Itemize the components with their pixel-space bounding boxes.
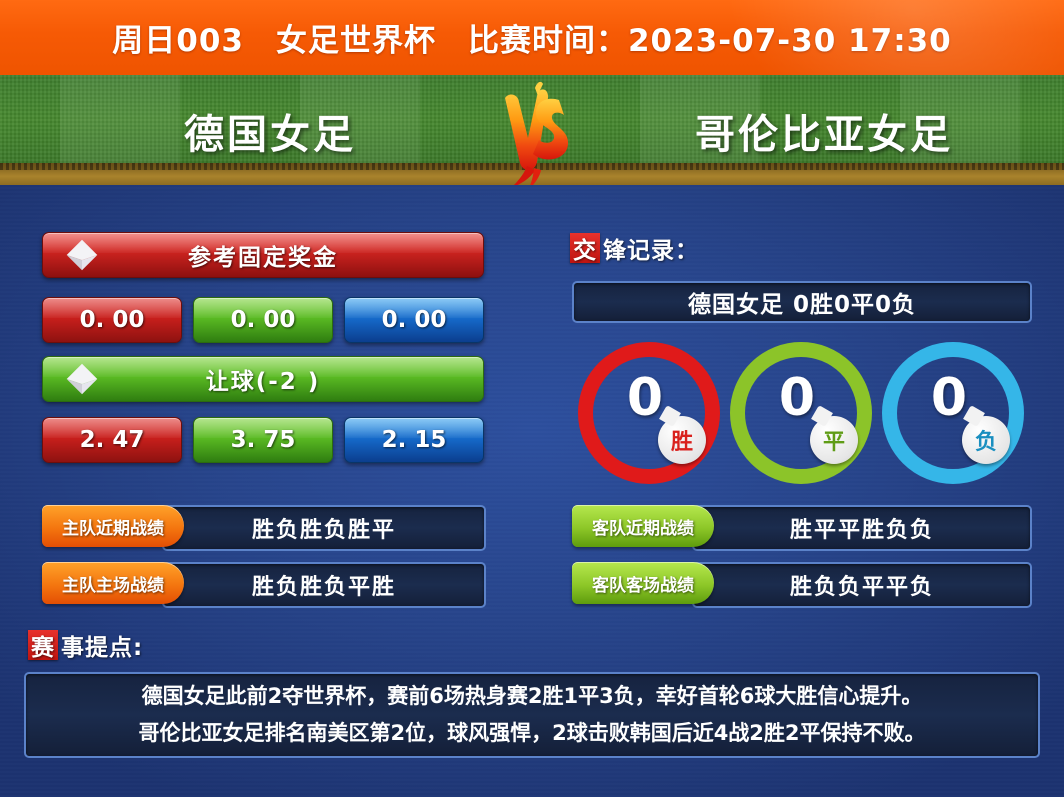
fixed-odds-away-button[interactable]: 0. 00 bbox=[344, 297, 484, 343]
analysis-line-1: 德国女足此前2夺世界杯，赛前6场热身赛2胜1平3负，幸好首轮6球大胜信心提升。 bbox=[142, 678, 923, 715]
fixed-odds-home-value: 0. 00 bbox=[80, 307, 145, 333]
home-recent-form-label: 主队近期战绩 bbox=[62, 514, 164, 539]
header-bar: 周日003 女足世界杯 比赛时间：2023-07-30 17:30 bbox=[0, 0, 1064, 75]
analysis-section-label: 赛 事提点: bbox=[28, 628, 143, 662]
handicap-draw-button[interactable]: 3. 75 bbox=[193, 417, 333, 463]
away-recent-form-tab[interactable]: 客队近期战绩 bbox=[572, 505, 714, 547]
handicap-home-value: 2. 47 bbox=[80, 427, 145, 453]
away-venue-form-label: 客队客场战绩 bbox=[592, 571, 694, 596]
handicap-title: 让球(-2 ) bbox=[206, 362, 321, 396]
h2h-summary-bar: 德国女足 0胜0平0负 bbox=[572, 281, 1032, 323]
vs-icon bbox=[487, 80, 587, 190]
fixed-odds-title-bar: 参考固定奖金 bbox=[42, 232, 484, 278]
h2h-label-text: 锋记录： bbox=[603, 231, 699, 265]
away-recent-form-label: 客队近期战绩 bbox=[592, 514, 694, 539]
h2h-win-badge: 胜 bbox=[658, 416, 706, 464]
analysis-line-2: 哥伦比亚女足排名南美区第2位，球风强悍，2球击败韩国后近4战2胜2平保持不败。 bbox=[138, 715, 925, 752]
away-team-name: 哥伦比亚女足 bbox=[654, 88, 994, 173]
home-venue-form-tab[interactable]: 主队主场战绩 bbox=[42, 562, 184, 604]
analysis-box: 德国女足此前2夺世界杯，赛前6场热身赛2胜1平3负，幸好首轮6球大胜信心提升。 … bbox=[24, 672, 1040, 758]
handicap-title-bar: 让球(-2 ) bbox=[42, 356, 484, 402]
h2h-ring-loss: 0 负 bbox=[882, 342, 994, 454]
home-venue-form-value: 胜负胜负平胜 bbox=[162, 562, 486, 608]
h2h-ring-win: 0 胜 bbox=[578, 342, 690, 454]
home-venue-form-label: 主队主场战绩 bbox=[62, 571, 164, 596]
home-recent-form-tab[interactable]: 主队近期战绩 bbox=[42, 505, 184, 547]
match-preview-page: 周日003 女足世界杯 比赛时间：2023-07-30 17:30 德国女足 哥… bbox=[0, 0, 1064, 797]
handicap-away-button[interactable]: 2. 15 bbox=[344, 417, 484, 463]
fixed-odds-home-button[interactable]: 0. 00 bbox=[42, 297, 182, 343]
header-title: 周日003 女足世界杯 比赛时间：2023-07-30 17:30 bbox=[0, 0, 1064, 75]
h2h-badge-glyph: 交 bbox=[570, 233, 600, 263]
home-venue-form-row: 胜负胜负平胜 主队主场战绩 bbox=[42, 562, 482, 604]
diamond-icon bbox=[65, 238, 99, 272]
handicap-draw-value: 3. 75 bbox=[231, 427, 296, 453]
fixed-odds-title: 参考固定奖金 bbox=[188, 238, 338, 272]
away-venue-form-row: 胜负负平平负 客队客场战绩 bbox=[572, 562, 1028, 604]
handicap-away-value: 2. 15 bbox=[382, 427, 447, 453]
h2h-draw-badge: 平 bbox=[810, 416, 858, 464]
diamond-icon bbox=[65, 362, 99, 396]
away-recent-form-value: 胜平平胜负负 bbox=[692, 505, 1032, 551]
away-recent-form-row: 胜平平胜负负 客队近期战绩 bbox=[572, 505, 1028, 547]
home-team-name: 德国女足 bbox=[120, 88, 420, 173]
home-recent-form-row: 胜负胜负胜平 主队近期战绩 bbox=[42, 505, 482, 547]
fixed-odds-away-value: 0. 00 bbox=[382, 307, 447, 333]
handicap-home-button[interactable]: 2. 47 bbox=[42, 417, 182, 463]
analysis-badge-glyph: 赛 bbox=[28, 630, 58, 660]
fixed-odds-draw-value: 0. 00 bbox=[231, 307, 296, 333]
away-venue-form-value: 胜负负平平负 bbox=[692, 562, 1032, 608]
h2h-ring-draw: 0 平 bbox=[730, 342, 842, 454]
home-recent-form-value: 胜负胜负胜平 bbox=[162, 505, 486, 551]
away-venue-form-tab[interactable]: 客队客场战绩 bbox=[572, 562, 714, 604]
h2h-loss-badge: 负 bbox=[962, 416, 1010, 464]
h2h-section-label: 交 锋记录： bbox=[570, 231, 699, 265]
analysis-label-text: 事提点: bbox=[61, 628, 143, 662]
fixed-odds-draw-button[interactable]: 0. 00 bbox=[193, 297, 333, 343]
h2h-summary-text: 德国女足 0胜0平0负 bbox=[688, 285, 916, 319]
